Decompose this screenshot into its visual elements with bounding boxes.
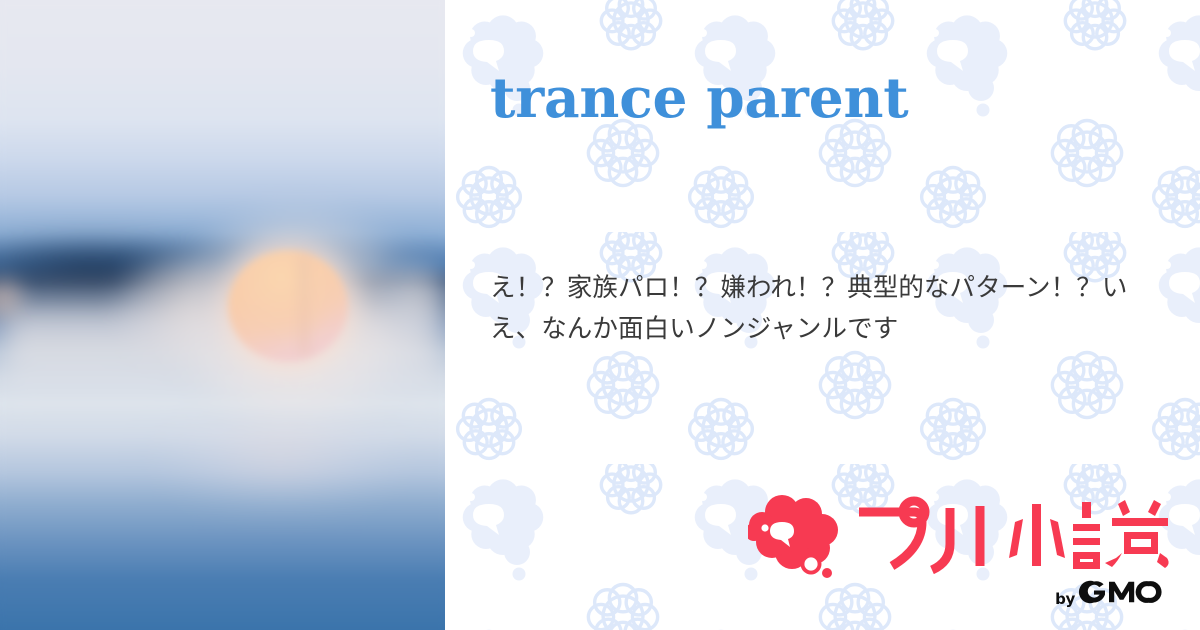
content-panel: trance parent え！？家族パロ！？嫌われ！？典型的なパターン！？いえ… (445, 0, 1200, 630)
cover-image (0, 0, 445, 630)
thought-bubble-icon (748, 492, 844, 578)
page-title: trance parent (490, 66, 1150, 130)
byline-by-gmo: by (1055, 580, 1170, 608)
brand-logo: by (748, 492, 1174, 608)
novel-description: え！？家族パロ！？嫌われ！？典型的なパターン！？いえ、なんか面白いノンジャンルで… (490, 268, 1138, 351)
cover-soft-focus-overlay (0, 0, 445, 630)
novel-share-card: trance parent え！？家族パロ！？嫌われ！？典型的なパターン！？いえ… (0, 0, 1200, 630)
byline-prefix: by (1055, 590, 1075, 608)
brand-logo-main (748, 492, 1174, 578)
brand-wordmark-purishousetsu (854, 496, 1174, 574)
gmo-wordmark (1078, 580, 1170, 604)
